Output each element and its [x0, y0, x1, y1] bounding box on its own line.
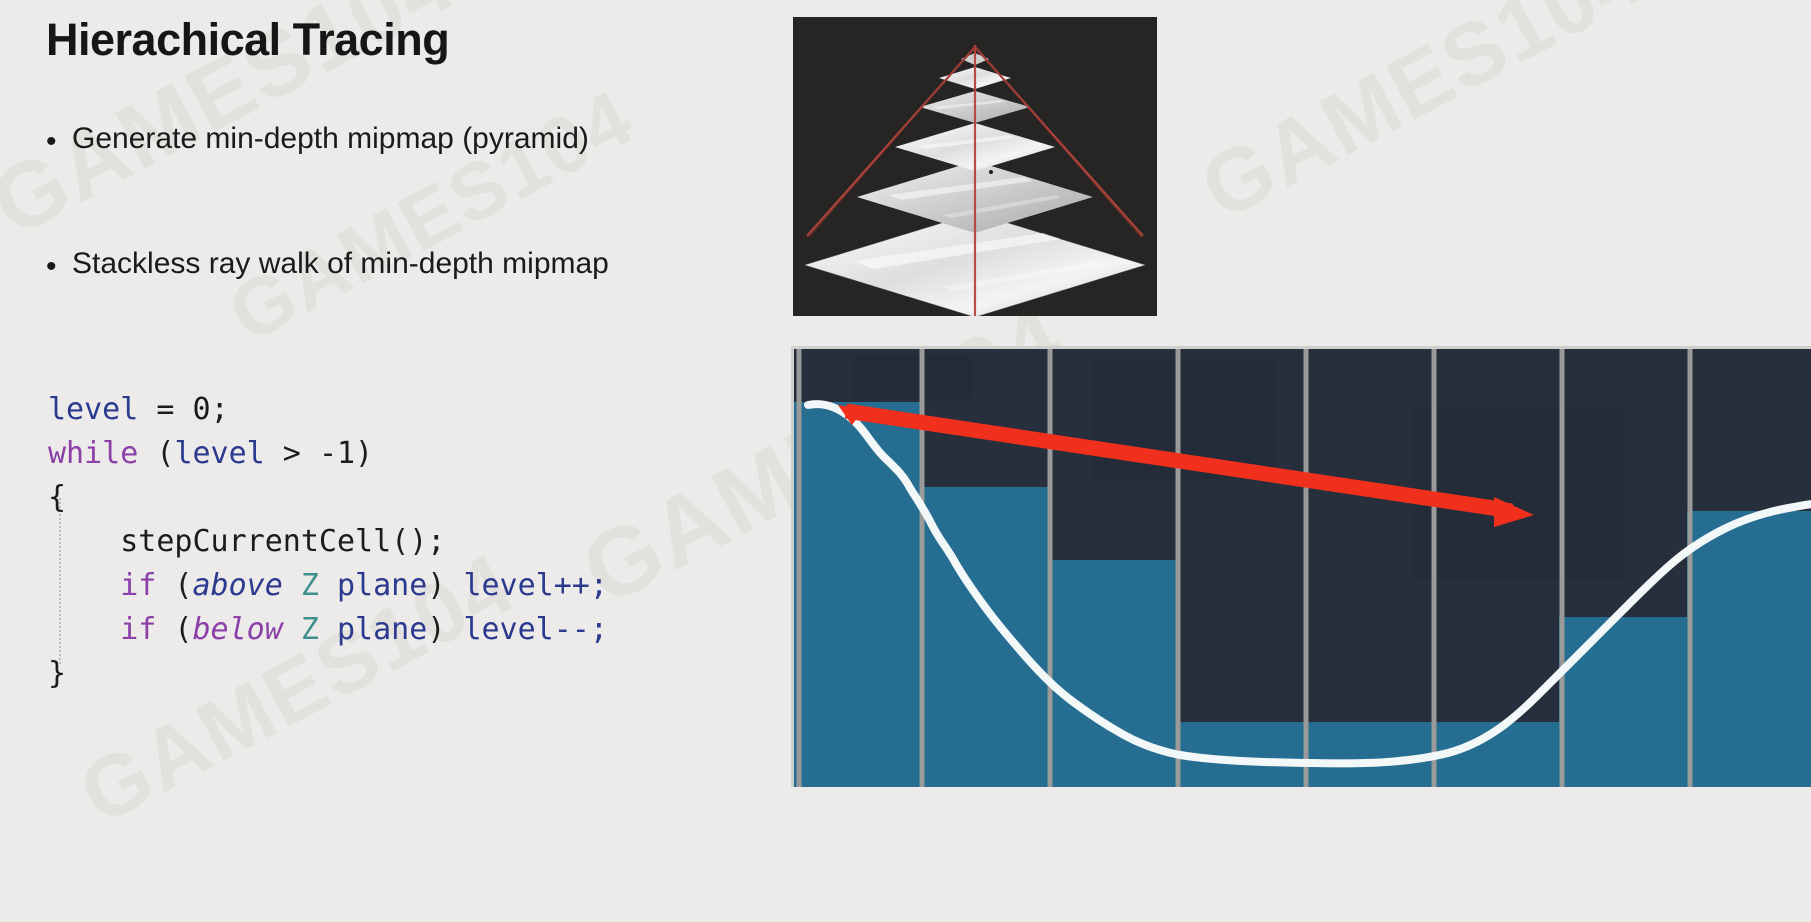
depth-ray-walk-figure: [791, 346, 1811, 787]
code-token: stepCurrentCell();: [120, 524, 445, 559]
code-token: [48, 524, 120, 559]
code-line-6: }: [48, 652, 608, 696]
code-token: -1): [319, 436, 373, 471]
code-token: if: [120, 568, 156, 603]
code-token: if: [120, 612, 156, 647]
code-line-0: level = 0;: [48, 388, 608, 432]
code-token: =: [138, 392, 192, 427]
code-token: level: [174, 436, 264, 471]
code-token: [283, 612, 301, 647]
code-line-5: if (below Z plane) level--;: [48, 608, 608, 652]
code-token: ;: [211, 392, 229, 427]
code-token: plane: [337, 612, 427, 647]
code-token: (: [138, 436, 174, 471]
code-token: --;: [554, 612, 608, 647]
sample-point-dot: [989, 170, 993, 174]
code-block: level = 0;while (level > -1){ stepCurren…: [48, 388, 608, 696]
min-depth-cell-6: [1559, 617, 1688, 787]
code-token: ): [427, 612, 463, 647]
code-line-4: if (above Z plane) level++;: [48, 564, 608, 608]
code-token: while: [48, 436, 138, 471]
code-line-2: {: [48, 476, 608, 520]
code-token: [48, 612, 120, 647]
watermark: GAMES104: [1184, 0, 1661, 240]
code-token: above: [193, 568, 283, 603]
code-token: ): [427, 568, 463, 603]
bullet-item-0: • Generate min-depth mipmap (pyramid): [46, 121, 589, 157]
code-line-1: while (level > -1): [48, 432, 608, 476]
code-token: ++;: [554, 568, 608, 603]
mipmap-pyramid-figure: [793, 17, 1157, 316]
bullet-text: Generate min-depth mipmap (pyramid): [72, 121, 589, 157]
code-token: [283, 568, 301, 603]
code-token: plane: [337, 568, 427, 603]
code-token: }: [48, 656, 66, 691]
code-token: {: [48, 480, 66, 515]
bullet-item-1: • Stackless ray walk of min-depth mipmap: [46, 246, 609, 282]
code-token: below: [193, 612, 283, 647]
code-token: (: [156, 612, 192, 647]
pyramid-svg: [793, 17, 1157, 316]
code-token: level: [463, 612, 553, 647]
code-token: Z: [301, 612, 319, 647]
depth-svg: [794, 349, 1811, 787]
bullet-marker-icon: •: [46, 121, 72, 157]
code-token: level: [48, 392, 138, 427]
code-token: [319, 612, 337, 647]
code-token: 0: [193, 392, 211, 427]
min-depth-cell-0: [794, 402, 923, 787]
code-line-3: stepCurrentCell();: [48, 520, 608, 564]
min-depth-cell-4: [1304, 722, 1433, 787]
watermark: GAMES104: [214, 71, 648, 360]
bullet-text: Stackless ray walk of min-depth mipmap: [72, 246, 609, 282]
slide-title: Hierachical Tracing: [46, 14, 449, 66]
min-depth-cell-7: [1687, 511, 1811, 787]
min-depth-cell-1: [922, 487, 1051, 787]
code-token: [48, 568, 120, 603]
code-token: [319, 568, 337, 603]
code-token: (: [156, 568, 192, 603]
code-token: >: [265, 436, 319, 471]
bullet-marker-icon: •: [46, 246, 72, 282]
slide-root: GAMES104 GAMES104 GAMES104 GAMES104 GAME…: [0, 0, 1811, 922]
code-token: Z: [301, 568, 319, 603]
code-token: level: [463, 568, 553, 603]
